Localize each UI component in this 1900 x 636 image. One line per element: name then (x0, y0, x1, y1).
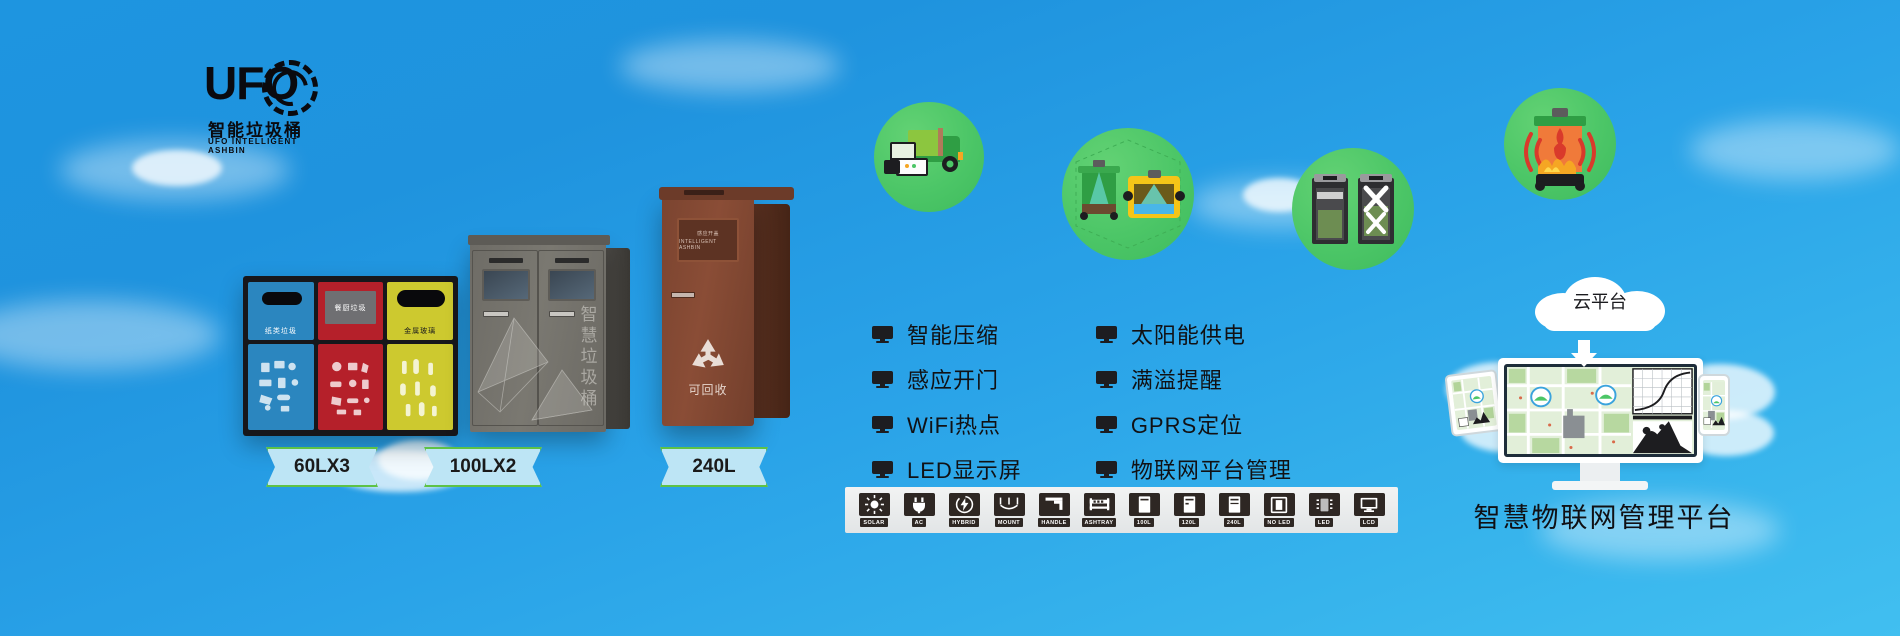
capacity-banner-100l: 100LX2 (424, 447, 542, 487)
feature-item: 满溢提醒 (1096, 363, 1292, 395)
bin-100l-icon (1129, 493, 1160, 516)
feature-circle-fill-sensor (1062, 128, 1194, 260)
handle-icon (483, 311, 509, 317)
lcd-icon (1354, 493, 1385, 516)
bin-display-screen: 餐厨垃圾 (325, 291, 377, 324)
spec-item-handle: HANDLE (1036, 493, 1072, 527)
monitor-bullet-icon (1096, 461, 1117, 478)
feature-label: 感应开门 (907, 363, 999, 395)
spec-item-mount: MOUNT (991, 493, 1027, 527)
desktop-monitor (1498, 358, 1703, 463)
bin-120l-icon (1174, 493, 1205, 516)
recycle-icon (688, 336, 728, 374)
recycle-label: 可回收 (682, 381, 734, 398)
paper-waste-illustration (248, 344, 314, 428)
metal-glass-waste-illustration (387, 344, 453, 428)
bin-compartment-label: 金属玻璃 (404, 326, 436, 336)
spec-label: NO LED (1264, 518, 1293, 527)
spec-label: ASHTRAY (1082, 518, 1117, 527)
led-strip-icon (489, 258, 523, 263)
feature-item: 太阳能供电 (1096, 318, 1292, 350)
spec-item-ashtray: ASHTRAY (1081, 493, 1117, 527)
feature-label: 物联网平台管理 (1131, 453, 1292, 485)
spec-label: LED (1315, 518, 1333, 527)
logo-english-tagline: UFO INTELLIGENT ASHBIN (208, 137, 320, 155)
feature-item: 物联网平台管理 (1096, 453, 1292, 485)
bin-compartment-kitchen: 餐厨垃圾 (318, 282, 384, 430)
bin-compartment-body (248, 344, 314, 430)
phone-map-view (1703, 380, 1725, 430)
feature-item: 智能压缩 (872, 318, 1022, 350)
spec-item-no-led: NO LED (1261, 493, 1297, 527)
spec-label: 100L (1134, 518, 1154, 527)
bin-front-face: 智慧垃圾桶 (470, 242, 606, 432)
bin-opening-slot (262, 292, 302, 305)
bin-compartment-label: 纸类垃圾 (265, 326, 297, 336)
monitor-screen (1504, 364, 1697, 457)
monitor-bullet-icon (1096, 326, 1117, 343)
hybrid-power-icon (949, 493, 980, 516)
waste-compression-icon (1292, 148, 1414, 270)
collection-vehicle-icon (874, 102, 984, 212)
spec-item-100l: 100L (1126, 493, 1162, 527)
bin-compartment-label: 餐厨垃圾 (335, 303, 367, 313)
handle-icon (1039, 493, 1070, 516)
spec-label: SOLAR (860, 518, 887, 527)
monitor-bullet-icon (872, 326, 893, 343)
spec-item-led: LED (1306, 493, 1342, 527)
capacity-banner-60l: 60LX3 (266, 447, 378, 487)
spec-item-solar: SOLAR (856, 493, 892, 527)
monitor-stand (1580, 463, 1620, 483)
bin-screen-line2: INTELLIGENT ASHBIN (679, 239, 737, 251)
bin-compartment-top: 纸类垃圾 (248, 282, 314, 340)
kitchen-waste-illustration (318, 344, 384, 428)
spec-label: 120L (1179, 518, 1199, 527)
bin-compartment-top: 金属玻璃 (387, 282, 453, 340)
feature-item: LED显示屏 (872, 453, 1022, 485)
feature-label: LED显示屏 (907, 453, 1022, 485)
feature-column-left: 智能压缩 感应开门 WiFi热点 LED显示屏 (872, 318, 1022, 485)
led-icon (1309, 493, 1340, 516)
bin-top-cap (468, 235, 610, 245)
fill-level-sensor-icon (1062, 128, 1194, 260)
bin-screen-line1: 感应开盖 (697, 230, 719, 237)
feature-item: WiFi热点 (872, 408, 1022, 440)
promo-banner: UFO 智能垃圾桶 UFO INTELLIGENT ASHBIN 纸类垃圾 (0, 0, 1900, 636)
cloud-decoration (132, 150, 222, 186)
sun-icon (859, 493, 890, 516)
monitor-base (1552, 481, 1648, 490)
spec-label: MOUNT (995, 518, 1023, 527)
brand-logo: UFO 智能垃圾桶 UFO INTELLIGENT ASHBIN (200, 58, 320, 154)
iot-platform-title: 智慧物联网管理平台 (1424, 496, 1784, 535)
bin-compartment-body (318, 344, 384, 430)
feature-circle-fire-alarm (1504, 88, 1616, 200)
iot-platform-diagram: 云平台 (1440, 300, 1770, 510)
bin-display-screen (482, 269, 530, 301)
bin-left-half (472, 250, 538, 426)
bin-compartment-body (387, 344, 453, 430)
phone-device (1698, 374, 1730, 436)
no-led-icon (1264, 493, 1295, 516)
feature-label: GPRS定位 (1131, 408, 1243, 440)
spec-item-240l: 240L (1216, 493, 1252, 527)
led-strip-icon (555, 258, 589, 263)
bin-side-panel (752, 204, 790, 418)
recycle-mark: 可回收 (682, 336, 734, 398)
bin-front-face: 感应开盖 INTELLIGENT ASHBIN 可回收 (662, 196, 754, 426)
plug-icon (904, 493, 935, 516)
bin-single-240l: 感应开盖 INTELLIGENT ASHBIN 可回收 (662, 196, 790, 426)
bin-triple-60l: 纸类垃圾 餐厨垃圾 (243, 276, 458, 436)
monitor-bullet-icon (1096, 371, 1117, 388)
bin-top-cap (659, 187, 794, 200)
bin-240l-icon (1219, 493, 1250, 516)
cloud-decoration (620, 40, 840, 92)
cloud-platform-badge: 云平台 (1535, 275, 1665, 331)
bin-display-screen: 感应开盖 INTELLIGENT ASHBIN (677, 218, 739, 262)
bin-double-100l: 智慧垃圾桶 (470, 242, 630, 432)
spec-label: 240L (1224, 518, 1244, 527)
spec-item-lcd: LCD (1351, 493, 1387, 527)
spec-label: HYBRID (949, 518, 978, 527)
feature-column-right: 太阳能供电 满溢提醒 GPRS定位 物联网平台管理 (1096, 318, 1292, 485)
feature-circle-compression (1292, 148, 1414, 270)
tablet-device (1444, 369, 1503, 437)
handle-icon (549, 311, 575, 317)
cloud-decoration (0, 300, 220, 370)
feature-label: WiFi热点 (907, 408, 1001, 440)
dashboard-map-and-charts (1507, 367, 1694, 454)
bin-side-text: 智慧垃圾桶 (580, 304, 600, 409)
wall-mount-icon (994, 493, 1025, 516)
fire-alarm-icon (1504, 88, 1616, 200)
bin-opening-slot (397, 290, 445, 307)
handle-icon (671, 292, 695, 298)
spec-label: LCD (1360, 518, 1379, 527)
bin-compartment-paper: 纸类垃圾 (248, 282, 314, 430)
led-strip-icon (684, 190, 724, 195)
bin-side-panel (604, 248, 630, 429)
feature-item: 感应开门 (872, 363, 1022, 395)
feature-label: 智能压缩 (907, 318, 999, 350)
spec-icon-strip: SOLAR AC HYBRID MOUNT (845, 487, 1398, 533)
spec-label: AC (912, 518, 927, 527)
monitor-bullet-icon (872, 461, 893, 478)
bin-compartment-top: 餐厨垃圾 (318, 282, 384, 340)
spec-label: HANDLE (1038, 518, 1069, 527)
feature-label: 太阳能供电 (1131, 318, 1246, 350)
feature-circle-vehicle (874, 102, 984, 212)
cloud-decoration (1690, 120, 1900, 180)
bin-compartment-metal-glass: 金属玻璃 (387, 282, 453, 430)
tablet-map-view (1451, 376, 1497, 431)
ashtray-icon (1084, 493, 1115, 516)
spec-item-hybrid: HYBRID (946, 493, 982, 527)
monitor-bullet-icon (1096, 416, 1117, 433)
spec-item-ac: AC (901, 493, 937, 527)
feature-label: 满溢提醒 (1131, 363, 1223, 395)
feature-list: 智能压缩 感应开门 WiFi热点 LED显示屏 太阳能供电 满溢提醒 (872, 318, 1292, 485)
monitor-bullet-icon (872, 416, 893, 433)
cloud-platform-label: 云平台 (1535, 275, 1665, 331)
feature-item: GPRS定位 (1096, 408, 1292, 440)
bin-display-screen (548, 269, 596, 301)
monitor-bullet-icon (872, 371, 893, 388)
spec-item-120l: 120L (1171, 493, 1207, 527)
capacity-banner-240l: 240L (660, 447, 768, 487)
